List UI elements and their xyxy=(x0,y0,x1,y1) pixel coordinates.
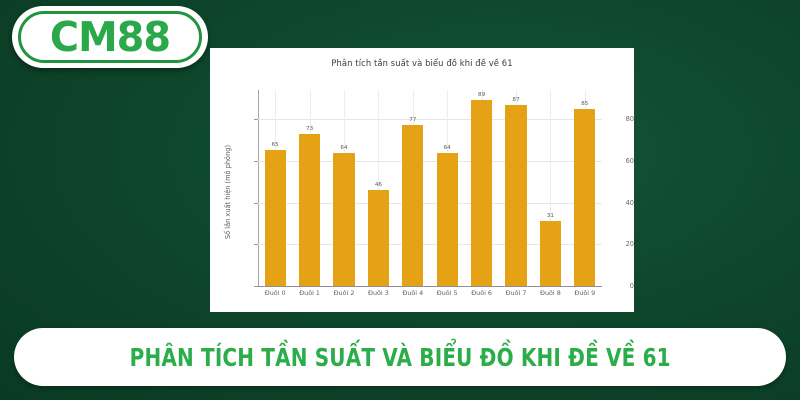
bar-column[interactable]: 65 xyxy=(265,150,286,286)
bar-column[interactable]: 64 xyxy=(333,153,354,286)
x-tick-label: Đuôi 3 xyxy=(368,289,389,297)
x-tick-label: Đuôi 8 xyxy=(540,289,561,297)
bar[interactable] xyxy=(437,153,458,286)
bar-value-label: 64 xyxy=(444,145,451,151)
plot-area: 65736446776489873185 xyxy=(258,90,602,286)
bar[interactable] xyxy=(299,134,320,286)
bar-value-label: 85 xyxy=(581,101,588,107)
bar[interactable] xyxy=(333,153,354,286)
x-tick-label: Đuôi 9 xyxy=(574,289,595,297)
bar-column[interactable]: 89 xyxy=(471,100,492,286)
y-axis-title: Số lần xuất hiện (mô phỏng) xyxy=(224,102,232,282)
x-tick-label: Đuôi 0 xyxy=(265,289,286,297)
x-tick-label: Đuôi 4 xyxy=(402,289,423,297)
bar[interactable] xyxy=(402,125,423,286)
chart-panel: Phân tích tần suất và biểu đồ khi đề về … xyxy=(210,48,634,312)
headline-text: PHÂN TÍCH TẦN SUẤT VÀ BIỂU ĐỒ KHI ĐỀ VỀ … xyxy=(129,345,670,370)
bar-column[interactable]: 87 xyxy=(505,105,526,286)
bar[interactable] xyxy=(574,109,595,286)
bar-value-label: 73 xyxy=(306,126,313,132)
plot-wrapper: Số lần xuất hiện (mô phỏng) 020406080 65… xyxy=(210,48,634,312)
bar-value-label: 77 xyxy=(409,117,416,123)
brand-logo-text: CM88 xyxy=(50,17,170,58)
bar-column[interactable]: 73 xyxy=(299,134,320,286)
bar-column[interactable]: 46 xyxy=(368,190,389,286)
bar[interactable] xyxy=(540,221,561,286)
bar[interactable] xyxy=(368,190,389,286)
bar-value-label: 31 xyxy=(547,213,554,219)
bar[interactable] xyxy=(505,105,526,286)
promo-banner-image: CM88 Phân tích tần suất và biểu đồ khi đ… xyxy=(0,0,800,400)
bar-column[interactable]: 64 xyxy=(437,153,458,286)
bar[interactable] xyxy=(471,100,492,286)
bar[interactable] xyxy=(265,150,286,286)
bar-column[interactable]: 77 xyxy=(402,125,423,286)
bar-column[interactable]: 85 xyxy=(574,109,595,286)
bar-value-label: 64 xyxy=(340,145,347,151)
x-tick-label: Đuôi 2 xyxy=(334,289,355,297)
brand-logo-badge: CM88 xyxy=(12,6,208,68)
headline-banner: PHÂN TÍCH TẦN SUẤT VÀ BIỂU ĐỒ KHI ĐỀ VỀ … xyxy=(14,328,786,386)
x-tick-label: Đuôi 6 xyxy=(471,289,492,297)
x-tick-label: Đuôi 5 xyxy=(437,289,458,297)
bar-value-label: 87 xyxy=(512,97,519,103)
bar-value-label: 89 xyxy=(478,92,485,98)
bar-value-label: 65 xyxy=(272,142,279,148)
x-tick-label: Đuôi 1 xyxy=(299,289,320,297)
x-axis-line xyxy=(258,286,602,287)
x-tick-label: Đuôi 7 xyxy=(506,289,527,297)
bar-value-label: 46 xyxy=(375,182,382,188)
bar-column[interactable]: 31 xyxy=(540,221,561,286)
